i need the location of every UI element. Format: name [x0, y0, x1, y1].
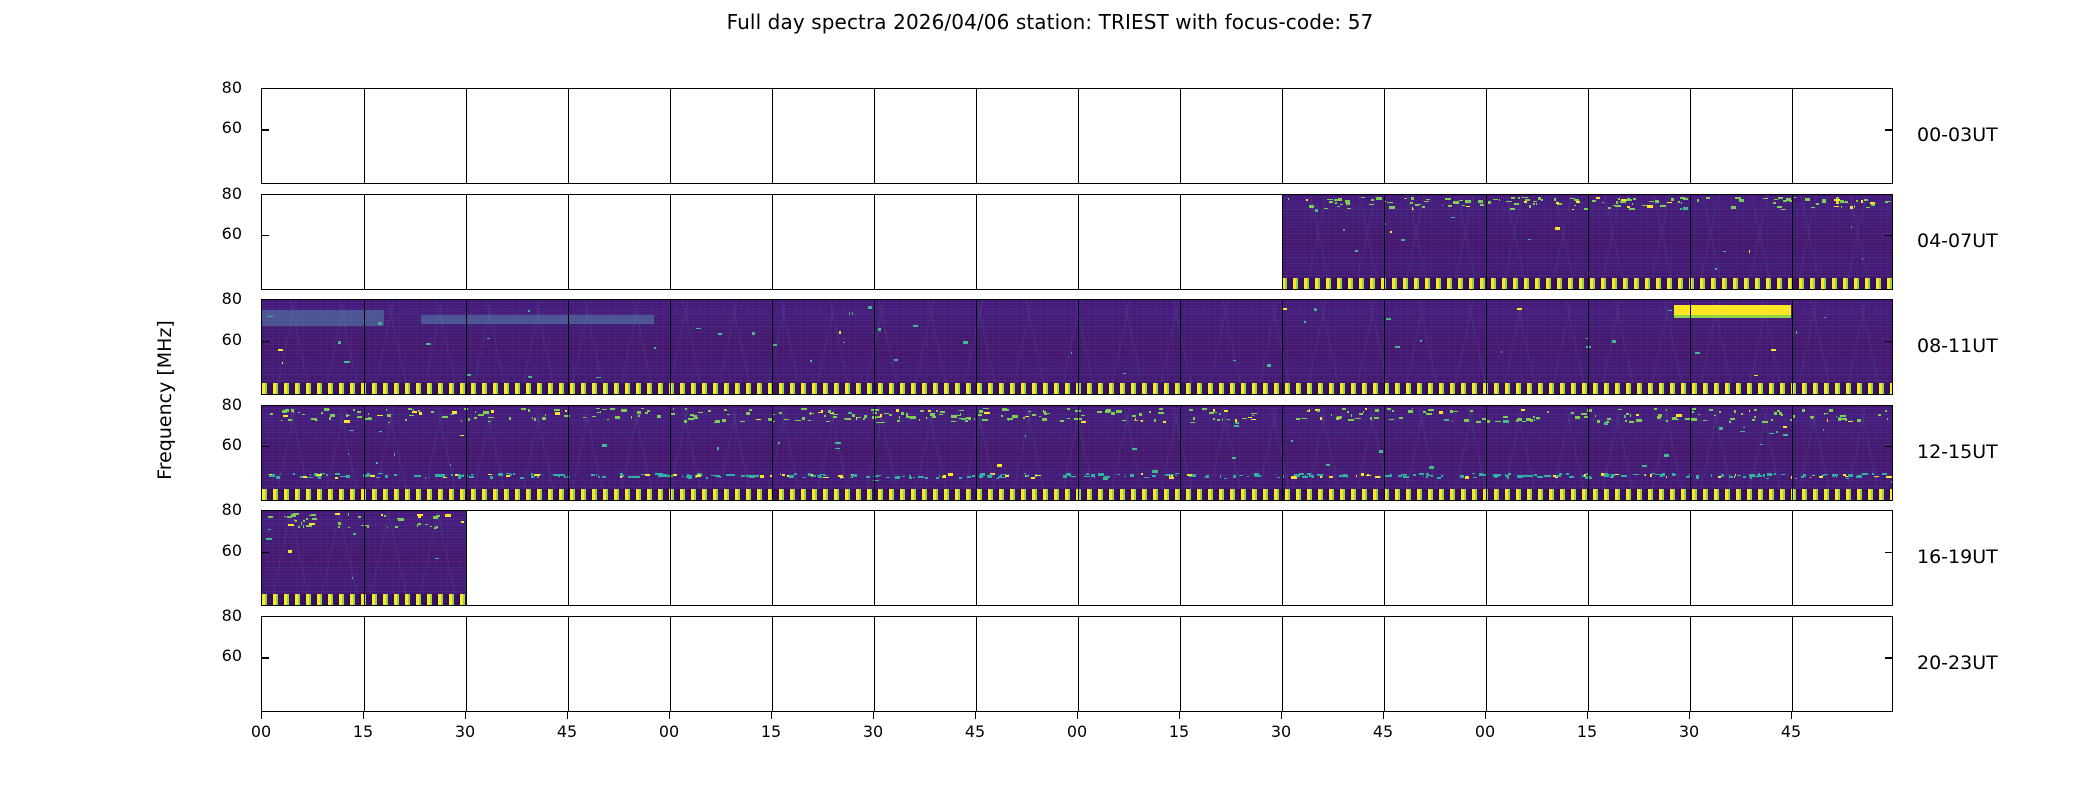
subpanel-separator	[1180, 195, 1181, 289]
spectrogram-speckle	[1601, 473, 1604, 476]
spectrogram-speckle	[1067, 418, 1070, 419]
spectrogram-speckle	[565, 410, 567, 412]
y-tick-mark	[262, 657, 269, 658]
spectrogram-speckle	[430, 526, 432, 527]
spectrogram-speckle	[1606, 421, 1609, 423]
spectrogram-speckle	[968, 418, 971, 420]
spectrogram-speckle	[1411, 197, 1414, 200]
spectrogram-speckle	[1301, 418, 1307, 419]
spectrogram-speckle	[698, 474, 700, 476]
spectrogram-speckle	[671, 413, 675, 415]
spectrogram-speckle	[1329, 476, 1333, 478]
spectrogram-speckle	[634, 476, 639, 478]
spectrogram-row-16-19ut[interactable]	[261, 510, 1893, 606]
spectrogram-speckle	[872, 416, 876, 419]
spectrogram-speckle	[833, 414, 838, 415]
spectrogram-speckle	[409, 415, 414, 416]
subpanel-separator	[1690, 617, 1691, 711]
spectrogram-speckle	[673, 408, 674, 410]
spectrogram-speckle	[1534, 419, 1535, 421]
spectrogram-speckle	[1497, 474, 1501, 476]
subpanel-separator	[976, 617, 977, 711]
spectrogram-speckle	[727, 414, 730, 415]
spectrogram-speckle	[498, 473, 503, 476]
spectrogram-speckle	[431, 411, 434, 413]
spectrogram-speckle	[398, 518, 404, 521]
subpanel-separator	[1690, 511, 1691, 605]
row-label-00-03ut: 00-03UT	[1917, 124, 1998, 146]
spectrogram-speckle	[1060, 420, 1064, 422]
spectrogram-speckle	[1541, 199, 1543, 201]
spectrogram-speckle	[1608, 207, 1611, 209]
spectrogram-speckle	[559, 474, 560, 476]
spectrogram-speckle	[1511, 197, 1515, 199]
spectrogram-speckle	[1337, 206, 1340, 207]
subpanel-separator	[466, 617, 467, 711]
spectrogram-speckle	[1343, 229, 1345, 231]
spectrogram-speckle	[1251, 413, 1257, 414]
spectrogram-speckle	[1361, 473, 1364, 476]
spectrogram-speckle	[1267, 364, 1271, 367]
spectrogram-speckle	[1675, 419, 1679, 420]
x-tick-mark	[1689, 712, 1690, 719]
spectrogram-speckle	[795, 420, 801, 421]
spectrogram-speckle	[335, 477, 338, 479]
spectrogram-speckle	[1570, 198, 1575, 199]
x-tick-label: 15	[353, 722, 373, 741]
spectrogram-speckle	[960, 413, 961, 416]
spectrogram-speckle	[302, 414, 305, 415]
spectrogram-speckle	[358, 516, 361, 518]
spectrogram-speckle	[1749, 474, 1755, 477]
spectrogram-speckle	[376, 462, 378, 464]
spectrogram-speckle	[1584, 416, 1589, 418]
subpanel-separator	[1588, 617, 1589, 711]
spectrogram-speckle	[1233, 360, 1236, 361]
spectrogram-speckle	[346, 475, 349, 477]
subpanel-separator	[874, 617, 875, 711]
spectrogram-speckle	[1375, 476, 1380, 478]
x-tick-label: 00	[251, 722, 271, 741]
spectrogram-speckle	[1412, 209, 1414, 210]
spectrogram-speckle	[288, 419, 292, 421]
spectrogram-speckle	[1737, 475, 1741, 476]
x-tick-label: 45	[1781, 722, 1801, 741]
spectrogram-speckle	[1007, 418, 1013, 420]
spectrogram-speckle	[1158, 412, 1164, 414]
spectrogram-speckle	[1222, 418, 1223, 421]
spectrogram-speckle	[963, 341, 968, 344]
spectrogram-speckle	[1774, 473, 1776, 475]
spectrogram-speckle	[1452, 421, 1453, 422]
spectrogram-speckle	[641, 474, 645, 475]
spectrogram-speckle	[1754, 375, 1758, 376]
spectrogram-speckle	[564, 415, 570, 417]
spectrogram-speckle	[1453, 411, 1458, 412]
spectrogram-speckle	[1355, 418, 1361, 419]
subpanel-separator	[1180, 617, 1181, 711]
spectrogram-speckle	[1071, 352, 1072, 354]
spectrogram-speckle	[338, 526, 340, 528]
spectrogram-speckle	[1602, 202, 1604, 203]
spectrogram-speckle	[1811, 417, 1813, 419]
spectrogram-speckle	[381, 514, 383, 516]
spectrogram-speckle	[1392, 410, 1394, 412]
spectrogram-speckle	[824, 415, 826, 417]
spectrogram-speckle	[385, 475, 388, 478]
subpanel-separator	[976, 89, 977, 183]
spectrogram-speckle	[326, 474, 328, 476]
calibration-stripe-band	[262, 594, 466, 605]
spectrogram-speckle	[1001, 415, 1003, 417]
spectrogram-speckle	[1592, 200, 1596, 202]
spectrogram-speckle	[1840, 415, 1846, 417]
spectrogram-speckle	[363, 474, 365, 477]
spectrogram-speckle	[303, 520, 305, 522]
spectrogram-speckle	[488, 474, 492, 475]
spectrogram-speckle	[1012, 415, 1018, 418]
subpanel-separator	[670, 511, 671, 605]
spectrogram-speckle	[809, 413, 814, 414]
spectrogram-speckle	[1882, 473, 1887, 475]
spectrogram-speckle	[1169, 474, 1174, 475]
spectrogram-speckle	[820, 474, 821, 477]
spectrogram-speckle	[1347, 411, 1349, 413]
spectrogram-speckle	[270, 413, 273, 415]
spectrogram-speckle	[654, 347, 656, 349]
spectrogram-speckle	[1887, 418, 1888, 420]
spectrogram-speckle	[980, 473, 985, 476]
spectrogram-speckle	[1752, 419, 1755, 421]
spectrogram-speckle	[1320, 417, 1322, 420]
spectrogram-speckle	[1074, 418, 1078, 420]
spectrogram-speckle	[1507, 476, 1509, 479]
spectrogram-speckle	[1291, 440, 1293, 442]
spectrogram-speckle	[1410, 202, 1413, 204]
spectrogram-speckle	[1233, 475, 1236, 478]
spectrogram-speckle	[1805, 198, 1810, 201]
spectrogram-speckle	[1277, 477, 1280, 478]
spectrogram-speckle	[1823, 474, 1828, 475]
subpanel-separator	[466, 511, 467, 605]
spectrogram-speckle	[1848, 421, 1853, 422]
subpanel-separator	[1282, 89, 1283, 183]
spectrogram-speckle	[1025, 435, 1026, 437]
x-tick-mark	[669, 712, 670, 719]
spectrogram-speckle	[1320, 476, 1322, 478]
spectrogram-row-08-11ut[interactable]	[261, 299, 1893, 395]
spectrogram-speckle	[463, 474, 464, 476]
y-tick-mark	[1885, 341, 1892, 342]
spectrogram-speckle	[1544, 475, 1547, 476]
spectrogram-speckle	[1586, 346, 1591, 348]
spectrogram-speckle	[545, 414, 546, 416]
spectrogram-speckle	[1439, 411, 1443, 414]
spectrogram-speckle	[1848, 474, 1853, 477]
spectrogram-speckle	[1781, 209, 1786, 210]
spectrogram-speckle	[1615, 474, 1619, 475]
spectrogram-speckle	[873, 476, 879, 477]
spectrogram-speckle	[715, 420, 720, 423]
spectrogram-row-20-23ut[interactable]	[261, 616, 1893, 712]
spectrogram-speckle	[1493, 199, 1498, 200]
spectrogram-speckle	[1404, 198, 1407, 199]
spectrogram-speckle	[1680, 208, 1682, 210]
spectrogram-speckle	[690, 414, 694, 416]
spectrogram-speckle	[1572, 209, 1574, 210]
spectrogram-speckle	[1351, 414, 1352, 417]
spectrogram-speckle	[306, 525, 312, 527]
y-tick-label: 60	[180, 330, 242, 349]
spectrogram-speckle	[1719, 427, 1723, 430]
spectrogram-speckle	[1790, 419, 1793, 421]
spectrogram-speckle	[719, 476, 721, 478]
spectrogram-speckle	[1547, 411, 1549, 413]
spectrogram-speckle	[1123, 373, 1126, 374]
spectrogram-speckle	[607, 419, 609, 420]
spectrogram-speckle	[1664, 454, 1669, 457]
subpanel-separator	[1078, 617, 1079, 711]
spectrogram-speckle	[378, 473, 383, 474]
spectrogram-speckle	[1605, 474, 1610, 475]
spectrogram-speckle	[933, 416, 936, 418]
spectrogram-speckle	[667, 475, 673, 477]
spectrogram-speckle	[1213, 418, 1215, 420]
spectrogram-speckle	[528, 310, 530, 312]
spectrogram-speckle	[1824, 317, 1826, 318]
spectrogram-speckle	[1139, 413, 1142, 416]
spectrogram-speckle	[1612, 475, 1614, 478]
spectrogram-speckle	[1862, 258, 1863, 260]
spectrogram-speckle	[901, 412, 904, 415]
spectrogram-speckle	[1729, 421, 1731, 423]
spectrogram-speckle	[1523, 475, 1529, 477]
spectrogram-speckle	[778, 442, 780, 444]
spectrogram-speckle	[897, 420, 900, 422]
spectrogram-speckle	[811, 474, 813, 476]
spectrogram-speckle	[567, 476, 570, 478]
spectrogram-speckle	[1251, 419, 1256, 420]
spectrogram-speckle	[1472, 473, 1475, 474]
spectrogram-speckle	[1845, 201, 1848, 203]
spectrogram-speckle	[312, 518, 317, 520]
spectrogram-speckle	[1242, 418, 1247, 419]
x-tick-mark	[363, 712, 364, 719]
spectrogram-speckle	[910, 416, 916, 419]
spectrogram-speckle	[895, 476, 900, 479]
spectrogram-speckle	[1337, 416, 1342, 418]
spectrogram-speckle	[1217, 419, 1220, 421]
spectrogram-speckle	[1709, 409, 1713, 411]
spectrogram-speckle	[1655, 200, 1659, 203]
spectrogram-speckle	[311, 514, 316, 516]
spectrogram-speckle	[951, 421, 956, 422]
y-tick-label: 80	[180, 184, 242, 203]
row-label-04-07ut: 04-07UT	[1917, 230, 1998, 252]
spectrogram-speckle	[596, 408, 600, 409]
spectrogram-speckle	[1098, 473, 1104, 476]
spectrogram-speckle	[1282, 475, 1284, 478]
spectrogram-speckle	[1633, 198, 1636, 200]
spectrogram-speckle	[899, 416, 900, 419]
spectrogram-speckle	[1863, 473, 1867, 474]
spectrogram-row-12-15ut[interactable]	[261, 405, 1893, 501]
spectrogram-speckle	[1647, 205, 1653, 208]
spectrogram-speckle	[951, 415, 957, 418]
subpanel-separators	[262, 511, 1892, 605]
spectrogram-speckle	[303, 525, 304, 528]
spectrogram-speckle	[896, 409, 899, 412]
spectrogram-speckle	[1740, 431, 1745, 432]
spectrogram-speckle	[1495, 476, 1497, 478]
spectrogram-speckle	[1630, 414, 1631, 417]
spectrogram-speckle	[1791, 476, 1793, 479]
spectrogram-speckle	[1537, 417, 1538, 420]
spectrogram-speckle	[1460, 475, 1464, 478]
spectrogram-speckle	[926, 417, 927, 419]
spectrogram-speckle	[1205, 476, 1209, 478]
spectrogram-speckle	[1032, 414, 1036, 416]
spectrogram-speckle	[821, 410, 823, 413]
spectrogram-speckle	[1846, 478, 1849, 479]
spectrogram-speckle	[1845, 418, 1847, 421]
spectrogram-speckle	[1122, 420, 1126, 421]
spectrogram-speckle	[1666, 476, 1667, 478]
spectrogram-speckle	[1620, 201, 1626, 203]
spectrogram-speckle	[426, 343, 431, 345]
spectrogram-speckle	[433, 516, 438, 519]
spectrogram-speckle	[1866, 207, 1870, 208]
spectrogram-speckle	[784, 419, 789, 420]
spectrogram-speckle	[984, 412, 990, 414]
subpanel-separator	[364, 195, 365, 289]
spectrogram-speckle	[852, 312, 853, 315]
spectrogram-data	[262, 511, 466, 605]
spectrogram-speckle	[1522, 421, 1526, 422]
spectrogram-speckle	[1703, 420, 1707, 421]
spectrogram-speckle	[1673, 474, 1676, 476]
spectrogram-speckle	[1667, 202, 1672, 203]
x-tick-label: 30	[1679, 722, 1699, 741]
spectrogram-speckle	[919, 419, 920, 421]
spectrogram-speckle	[1361, 197, 1365, 198]
spectrogram-speckle	[1636, 414, 1639, 416]
spectrogram-speckle	[1695, 352, 1700, 354]
spectrogram-speckle	[384, 515, 386, 517]
spectrogram-speckle	[1426, 413, 1432, 415]
spectrogram-row-00-03ut[interactable]	[261, 88, 1893, 184]
y-tick-mark	[262, 446, 269, 447]
spectrogram-speckle	[1628, 199, 1632, 201]
subpanel-separator	[772, 195, 773, 289]
spectrogram-speckle	[832, 412, 834, 413]
spectrogram-row-04-07ut[interactable]	[261, 194, 1893, 290]
spectrogram-grid	[261, 88, 1893, 712]
spectrogram-speckle	[1324, 208, 1328, 209]
spectrogram-speckle	[1219, 413, 1221, 415]
spectrogram-speckle	[469, 476, 474, 478]
spectrogram-speckle	[478, 414, 484, 416]
spectrogram-speckle	[828, 410, 831, 413]
subpanel-separator	[568, 89, 569, 183]
x-tick-label: 30	[455, 722, 475, 741]
subpanel-separator	[772, 617, 773, 711]
spectrogram-speckle	[1097, 411, 1102, 413]
spectrogram-speckle	[1239, 475, 1243, 476]
spectrogram-speckle	[555, 412, 560, 415]
subpanel-separator	[1792, 617, 1793, 711]
spectrogram-speckle	[1175, 473, 1179, 474]
elevated-noise-block	[262, 310, 384, 326]
spectrogram-speckle	[1445, 198, 1451, 200]
spectrogram-speckle	[1521, 409, 1525, 411]
spectrogram-speckle	[291, 514, 296, 517]
spectrogram-speckle	[773, 344, 777, 346]
spectrogram-speckle	[461, 521, 464, 523]
spectrogram-speckle	[394, 453, 395, 456]
spectrogram-speckle	[1390, 231, 1392, 233]
spectrogram-speckle	[1315, 209, 1318, 212]
x-tick-label: 45	[557, 722, 577, 741]
spectrogram-speckle	[1140, 420, 1142, 421]
spectrogram-speckle	[1141, 473, 1143, 475]
spectrogram-speckle	[1152, 470, 1158, 473]
spectrogram-speckle	[1035, 475, 1041, 476]
spectrogram-speckle	[686, 476, 690, 477]
spectrogram-speckle	[1302, 476, 1308, 478]
spectrogram-speckle	[276, 476, 280, 479]
spectrogram-speckle	[1094, 477, 1095, 478]
spectrogram-speckle	[1478, 200, 1483, 203]
spectrogram-speckle	[1387, 202, 1393, 203]
spectrogram-speckle	[849, 312, 850, 315]
x-tick-mark	[1383, 712, 1384, 719]
spectrogram-speckle	[1618, 198, 1620, 200]
spectrogram-speckle	[1766, 478, 1769, 479]
spectrogram-speckle	[1235, 419, 1237, 422]
spectrogram-speckle	[1144, 477, 1149, 478]
spectrogram-speckle	[1518, 197, 1520, 199]
spectrogram-speckle	[1220, 475, 1221, 478]
spectrogram-speckle	[1442, 205, 1443, 206]
spectrogram-speckle	[1444, 419, 1449, 421]
spectrogram-speckle	[1522, 197, 1528, 198]
spectrogram-speckle	[268, 529, 271, 530]
y-tick-label: 80	[180, 500, 242, 519]
spectrogram-speckle	[718, 333, 722, 335]
spectrogram-speckle	[1824, 413, 1828, 414]
spectrogram-speckle	[1595, 415, 1596, 417]
spectrogram-speckle	[1514, 203, 1519, 205]
spectrogram-speckle	[471, 474, 474, 475]
subpanel-separator	[1078, 511, 1079, 605]
spectrogram-speckle	[1574, 205, 1576, 206]
spectrogram-speckle	[1371, 199, 1374, 201]
spectrogram-speckle	[1763, 474, 1765, 477]
spectrogram-speckle	[740, 421, 745, 422]
spectrogram-speckle	[1730, 418, 1735, 420]
spectrogram-speckle	[1135, 418, 1136, 420]
x-tick-label: 15	[1577, 722, 1597, 741]
spectrogram-speckle	[1749, 250, 1750, 253]
spectrogram-speckle	[746, 412, 750, 415]
spectrogram-speckle	[1731, 206, 1736, 209]
x-tick-mark	[873, 712, 874, 719]
spectrogram-speckle	[602, 476, 606, 478]
spectrogram-speckle	[823, 477, 829, 478]
spectrogram-speckle	[1794, 197, 1796, 198]
spectrogram-speckle	[542, 417, 546, 420]
